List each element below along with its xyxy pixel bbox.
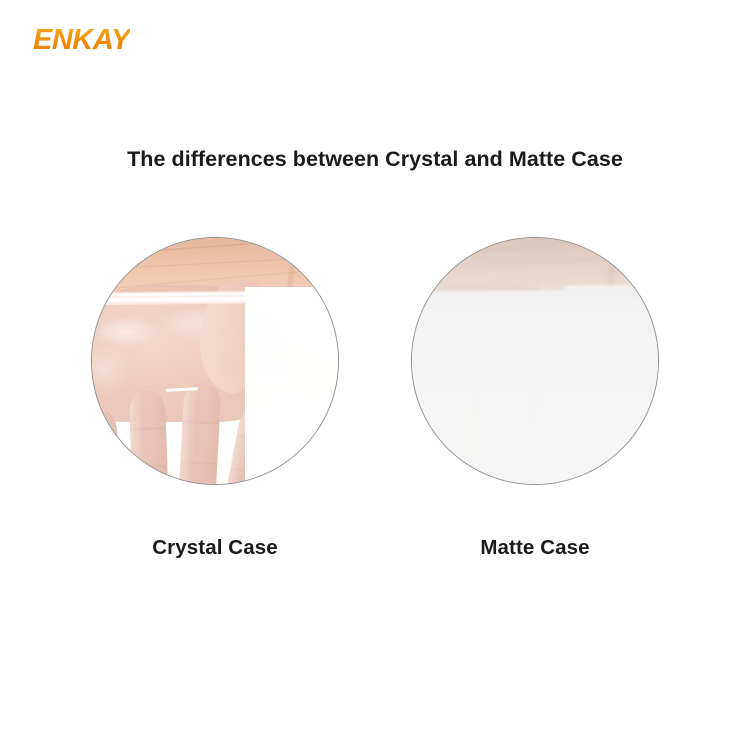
crystal-case-caption: Crystal Case	[92, 536, 338, 560]
case-body-overlay	[412, 301, 658, 484]
crystal-scene	[92, 238, 338, 484]
matte-scene	[412, 238, 658, 484]
enkay-logo: ENKAY	[33, 26, 130, 55]
matte-case-caption: Matte Case	[412, 536, 658, 560]
page-title: The differences between Crystal and Matt…	[0, 147, 750, 172]
matte-case-photo	[412, 238, 658, 484]
case-body-overlay	[92, 301, 338, 484]
product-comparison-page: ENKAY The differences between Crystal an…	[0, 0, 750, 750]
comparison-item-matte: Matte Case	[412, 238, 658, 484]
crystal-case-photo	[92, 238, 338, 484]
case-comparison: Crystal Case	[0, 238, 750, 578]
comparison-item-crystal: Crystal Case	[92, 238, 338, 484]
